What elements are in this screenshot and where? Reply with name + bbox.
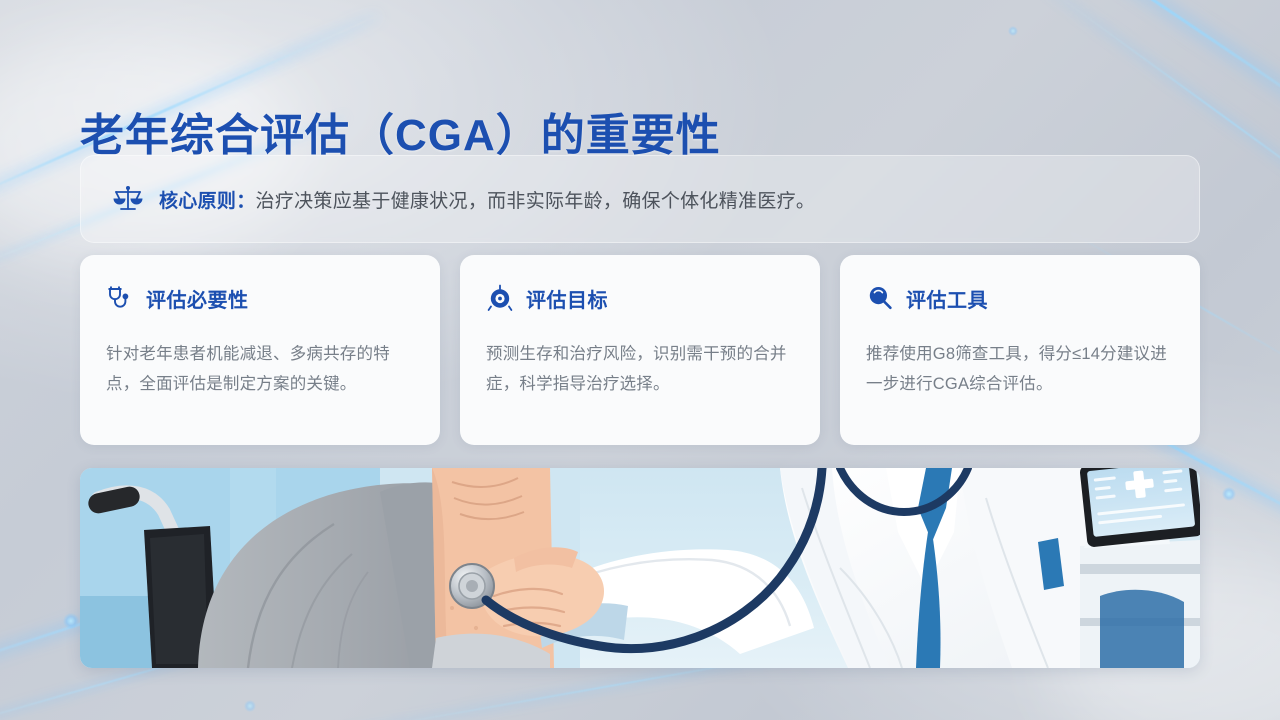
card-header: 评估必要性 [106,283,414,313]
card-title: 评估必要性 [146,284,249,313]
stethoscope-icon [106,284,134,312]
card-header: 评估目标 [486,283,794,313]
info-card-assessment-necessity[interactable]: 评估必要性 针对老年患者机能减退、多病共存的特点，全面评估是制定方案的关键。 [80,255,440,445]
core-principle-text: 核心原则：治疗决策应基于健康状况，而非实际年龄，确保个体化精准医疗。 [159,186,815,213]
card-body-text: 推荐使用G8筛查工具，得分≤14分建议进一步进行CGA综合评估。 [866,339,1174,399]
card-title: 评估目标 [526,284,608,313]
card-title: 评估工具 [906,284,988,313]
slide-root: 老年综合评估（CGA）的重要性 核心原则：治疗决策应基于健康状况，而非实际年龄，… [0,0,1280,720]
glow-dot [63,613,79,629]
card-body-text: 预测生存和治疗风险，识别需干预的合并症，科学指导治疗选择。 [486,339,794,399]
glow-dot [1222,487,1236,501]
glow-dot [244,700,256,712]
target-icon [486,284,514,312]
info-card-assessment-tools[interactable]: 评估工具 推荐使用G8筛查工具，得分≤14分建议进一步进行CGA综合评估。 [840,255,1200,445]
card-header: 评估工具 [866,283,1174,313]
glow-dot [1008,26,1018,36]
page-title: 老年综合评估（CGA）的重要性 [80,99,721,163]
core-principle-banner: 核心原则：治疗决策应基于健康状况，而非实际年龄，确保个体化精准医疗。 [80,155,1200,243]
magnifier-icon [866,284,894,312]
medical-examination-illustration [80,468,1200,668]
core-principle-body: 治疗决策应基于健康状况，而非实际年龄，确保个体化精准医疗。 [256,191,816,212]
info-card-assessment-goals[interactable]: 评估目标 预测生存和治疗风险，识别需干预的合并症，科学指导治疗选择。 [460,255,820,445]
scales-balance-icon [111,182,145,216]
core-principle-label: 核心原则： [159,191,256,212]
card-body-text: 针对老年患者机能减退、多病共存的特点，全面评估是制定方案的关键。 [106,339,414,399]
info-card-row: 评估必要性 针对老年患者机能减退、多病共存的特点，全面评估是制定方案的关键。 [80,255,1200,445]
